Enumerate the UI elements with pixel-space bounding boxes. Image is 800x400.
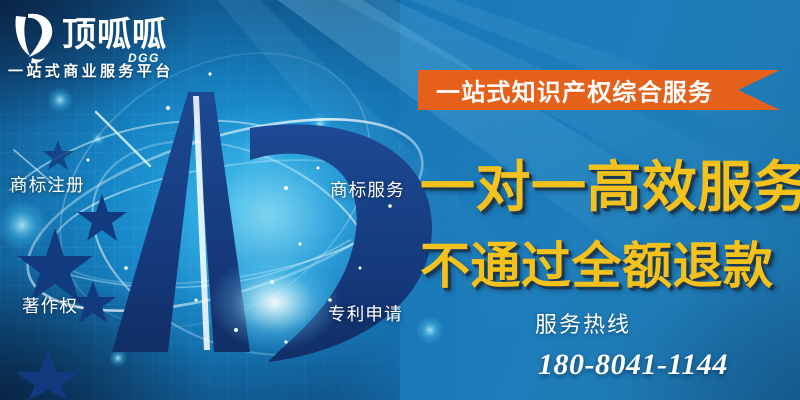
service-label-trademark-service[interactable]: 商标服务 — [330, 177, 405, 202]
center-hotspot-glow — [210, 255, 340, 350]
hotline-number[interactable]: 180-8041-1144 — [538, 348, 728, 382]
service-label-patent-application[interactable]: 专利申请 — [328, 301, 403, 326]
service-label-trademark-registration[interactable]: 商标注册 — [10, 172, 85, 197]
svg-text:顶呱呱: 顶呱呱 — [62, 16, 167, 54]
service-label-copyright[interactable]: 著作权 — [22, 293, 78, 318]
hotline-label: 服务热线 — [535, 307, 631, 339]
pennant-text: 一站式知识产权综合服务 — [436, 73, 713, 108]
dgg-leaf-mark-icon: 顶呱呱 DGG — [10, 8, 195, 68]
headline-secondary: 不通过全额退款 — [420, 226, 774, 298]
headline-primary: 一对一高效服务 — [420, 142, 800, 222]
brand-tagline: 一站式商业服务平台 — [8, 60, 174, 81]
pennant-banner: 一站式知识产权综合服务 — [418, 70, 780, 110]
promo-banner: 顶呱呱 DGG 一站式商业服务平台 商标注册 商标服务 著作权 专利申请 一站式… — [0, 0, 800, 400]
